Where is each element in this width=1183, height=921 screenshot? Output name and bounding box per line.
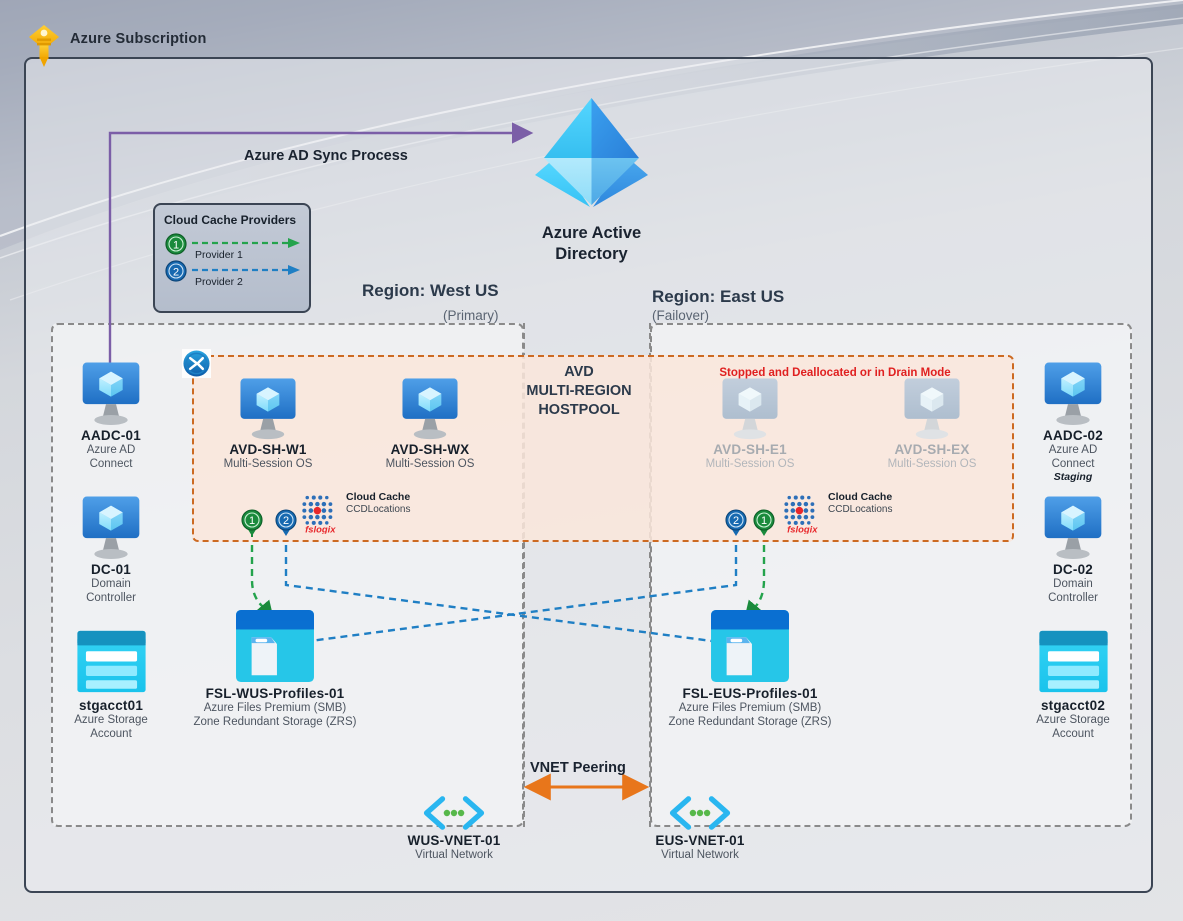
node-avd-sh-wx[interactable]: AVD-SH-WX Multi-Session OS — [380, 378, 480, 471]
node-avd-sh-ex[interactable]: AVD-SH-EX Multi-Session OS — [882, 378, 982, 471]
svg-text:2: 2 — [173, 267, 179, 279]
ccd-pin-east-1: 1 — [753, 509, 775, 537]
node-stgacct01[interactable]: stgacct01 Azure Storage Account — [62, 629, 160, 741]
aad-label-line2: Directory — [504, 244, 679, 265]
diagram-canvas: Azure Subscription Region: West US (Prim… — [0, 0, 1183, 921]
node-avd-sh-w1-sub1: Multi-Session OS — [218, 457, 318, 471]
virtual-network-icon — [669, 796, 731, 830]
legend-item-provider-1: 1 Provider 1 — [165, 233, 305, 263]
ccd-pin-east-2: 2 — [725, 509, 747, 537]
storage-account-icon — [74, 629, 149, 694]
region-east-title: Region: East US — [652, 287, 784, 307]
node-aadc-01-title: AADC-01 — [62, 428, 160, 443]
azure-active-directory: Azure Active Directory — [504, 95, 679, 265]
virtual-machine-icon — [1038, 496, 1108, 562]
node-aadc-01-sub2: Connect — [62, 457, 160, 471]
cloud-cache-east-title: Cloud Cache — [828, 491, 892, 503]
node-aadc-01-sub1: Azure AD — [62, 443, 160, 457]
region-east-subtitle: (Failover) — [652, 308, 709, 323]
node-avd-sh-e1-title: AVD-SH-E1 — [700, 442, 800, 457]
node-fsl-wus-sub1: Azure Files Premium (SMB) — [190, 701, 360, 715]
fslogix-icon — [300, 493, 342, 534]
node-dc-01-sub2: Controller — [62, 591, 160, 605]
storage-account-icon — [1036, 629, 1111, 694]
provider-1-arrow-icon — [192, 237, 302, 249]
node-eus-vnet-01[interactable]: EUS-VNET-01 Virtual Network — [636, 796, 764, 862]
node-stgacct01-title: stgacct01 — [62, 698, 160, 713]
node-avd-sh-w1-title: AVD-SH-W1 — [218, 442, 318, 457]
node-avd-sh-ex-title: AVD-SH-EX — [882, 442, 982, 457]
file-share-icon — [709, 608, 791, 684]
virtual-machine-icon — [1038, 362, 1108, 428]
legend-title: Cloud Cache Providers — [164, 213, 296, 227]
node-dc-02-sub2: Controller — [1024, 591, 1122, 605]
node-fsl-wus-profiles-01[interactable]: FSL-WUS-Profiles-01 Azure Files Premium … — [190, 608, 360, 729]
virtual-machine-icon — [76, 496, 146, 562]
node-aadc-02-sub1: Azure AD — [1024, 443, 1122, 457]
node-dc-01-sub1: Domain — [62, 577, 160, 591]
svg-text:1: 1 — [173, 240, 179, 252]
node-wus-vnet-title: WUS-VNET-01 — [390, 833, 518, 848]
region-west-subtitle: (Primary) — [443, 308, 499, 323]
provider-2-badge-icon: 2 — [165, 260, 187, 282]
node-aadc-02-sub3: Staging — [1024, 471, 1122, 483]
node-fsl-eus-profiles-01[interactable]: FSL-EUS-Profiles-01 Azure Files Premium … — [665, 608, 835, 729]
hostpool-label-line3: HOSTPOOL — [524, 401, 634, 420]
vnet-peering-label: VNET Peering — [530, 760, 626, 776]
avd-hostpool-icon — [182, 349, 211, 378]
node-fsl-wus-title: FSL-WUS-Profiles-01 — [190, 686, 360, 701]
subscription-title: Azure Subscription — [70, 31, 207, 47]
node-dc-02[interactable]: DC-02 Domain Controller — [1024, 496, 1122, 605]
ccd-pin-west-1: 1 — [241, 509, 263, 537]
cloud-cache-west-title: Cloud Cache — [346, 491, 410, 503]
node-dc-01[interactable]: DC-01 Domain Controller — [62, 496, 160, 605]
azure-ad-sync-label: Azure AD Sync Process — [244, 148, 408, 164]
node-dc-02-sub1: Domain — [1024, 577, 1122, 591]
node-avd-sh-e1-sub1: Multi-Session OS — [700, 457, 800, 471]
session-host-icon-disabled — [716, 378, 784, 442]
node-eus-vnet-sub1: Virtual Network — [636, 848, 764, 862]
svg-text:1: 1 — [249, 515, 255, 527]
cloud-cache-west-subtitle: CCDLocations — [346, 504, 410, 515]
fslogix-icon — [782, 493, 824, 534]
node-aadc-02[interactable]: AADC-02 Azure AD Connect Staging — [1024, 362, 1122, 483]
virtual-machine-icon — [76, 362, 146, 428]
aad-label-line1: Azure Active — [504, 223, 679, 244]
legend-item-provider-2: 2 Provider 2 — [165, 260, 305, 290]
node-aadc-02-title: AADC-02 — [1024, 428, 1122, 443]
cloud-cache-east-subtitle: CCDLocations — [828, 504, 892, 515]
svg-text:1: 1 — [761, 515, 767, 527]
cloud-cache-west: Cloud Cache CCDLocations — [300, 491, 450, 537]
azure-active-directory-icon — [504, 95, 679, 219]
node-aadc-02-sub2: Connect — [1024, 457, 1122, 471]
cloud-cache-providers-legend: Cloud Cache Providers 1 Provider 1 2 — [153, 203, 311, 313]
node-wus-vnet-sub1: Virtual Network — [390, 848, 518, 862]
node-aadc-01[interactable]: AADC-01 Azure AD Connect — [62, 362, 160, 471]
legend-label-provider-2: Provider 2 — [195, 276, 243, 288]
svg-text:2: 2 — [733, 515, 739, 527]
hostpool-label-line2: MULTI-REGION — [524, 382, 634, 401]
node-fsl-wus-sub2: Zone Redundant Storage (ZRS) — [190, 715, 360, 729]
node-avd-sh-e1[interactable]: AVD-SH-E1 Multi-Session OS — [700, 378, 800, 471]
node-dc-02-title: DC-02 — [1024, 562, 1122, 577]
session-host-icon — [234, 378, 302, 442]
key-icon — [26, 24, 62, 68]
node-avd-sh-w1[interactable]: AVD-SH-W1 Multi-Session OS — [218, 378, 318, 471]
node-fsl-eus-title: FSL-EUS-Profiles-01 — [665, 686, 835, 701]
node-stgacct01-sub2: Account — [62, 727, 160, 741]
svg-text:2: 2 — [283, 515, 289, 527]
node-avd-sh-wx-title: AVD-SH-WX — [380, 442, 480, 457]
node-stgacct02-title: stgacct02 — [1024, 698, 1122, 713]
node-fsl-eus-sub1: Azure Files Premium (SMB) — [665, 701, 835, 715]
provider-1-badge-icon: 1 — [165, 233, 187, 255]
hostpool-label: AVD MULTI-REGION HOSTPOOL — [524, 363, 634, 420]
file-share-icon — [234, 608, 316, 684]
node-fsl-eus-sub2: Zone Redundant Storage (ZRS) — [665, 715, 835, 729]
provider-2-arrow-icon — [192, 264, 302, 276]
node-eus-vnet-title: EUS-VNET-01 — [636, 833, 764, 848]
session-host-icon — [396, 378, 464, 442]
region-west-title: Region: West US — [362, 281, 499, 301]
hostpool-label-line1: AVD — [524, 363, 634, 382]
node-stgacct02[interactable]: stgacct02 Azure Storage Account — [1024, 629, 1122, 741]
virtual-network-icon — [423, 796, 485, 830]
cloud-cache-east: Cloud Cache CCDLocations — [782, 491, 932, 537]
session-host-icon-disabled — [898, 378, 966, 442]
node-wus-vnet-01[interactable]: WUS-VNET-01 Virtual Network — [390, 796, 518, 862]
node-dc-01-title: DC-01 — [62, 562, 160, 577]
node-avd-sh-ex-sub1: Multi-Session OS — [882, 457, 982, 471]
node-stgacct02-sub2: Account — [1024, 727, 1122, 741]
node-stgacct02-sub1: Azure Storage — [1024, 713, 1122, 727]
node-stgacct01-sub1: Azure Storage — [62, 713, 160, 727]
node-avd-sh-wx-sub1: Multi-Session OS — [380, 457, 480, 471]
ccd-pin-west-2: 2 — [275, 509, 297, 537]
